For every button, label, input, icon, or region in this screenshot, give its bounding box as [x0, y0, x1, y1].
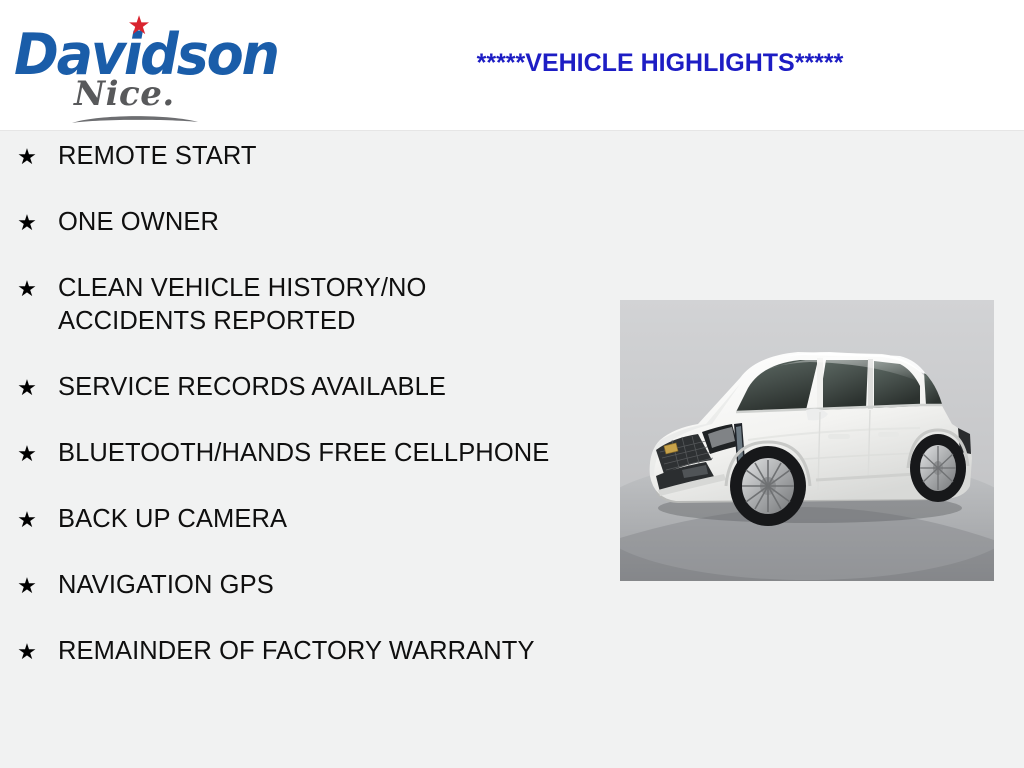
logo-script-text: Nice. [74, 76, 175, 112]
content-area: ★ REMOTE START ★ ONE OWNER ★ CLEAN VEHIC… [0, 131, 1024, 768]
star-bullet-icon: ★ [14, 140, 40, 173]
list-item: ★ BLUETOOTH/HANDS FREE CELLPHONE [12, 437, 552, 470]
list-item: ★ REMOTE START [12, 140, 552, 173]
list-item-label: REMOTE START [58, 140, 552, 173]
list-item-label: REMAINDER OF FACTORY WARRANTY [58, 635, 552, 668]
vehicle-photo[interactable] [620, 300, 994, 581]
list-item-label: SERVICE RECORDS AVAILABLE [58, 371, 552, 404]
list-item-label: BACK UP CAMERA [58, 503, 552, 536]
list-item: ★ REMAINDER OF FACTORY WARRANTY [12, 635, 552, 668]
vehicle-highlights-list: ★ REMOTE START ★ ONE OWNER ★ CLEAN VEHIC… [12, 140, 552, 701]
star-bullet-icon: ★ [14, 437, 40, 470]
dealer-logo[interactable]: Davidson ★ Nice. [14, 8, 264, 126]
list-item-label: ONE OWNER [58, 206, 552, 239]
list-item-label: NAVIGATION GPS [58, 569, 552, 602]
star-bullet-icon: ★ [14, 206, 40, 239]
list-item-label: BLUETOOTH/HANDS FREE CELLPHONE [58, 437, 552, 470]
star-bullet-icon: ★ [14, 272, 40, 305]
star-bullet-icon: ★ [14, 371, 40, 404]
logo-swoosh-icon [70, 112, 200, 126]
list-item-label: CLEAN VEHICLE HISTORY/NO ACCIDENTS REPOR… [58, 272, 552, 338]
list-item: ★ SERVICE RECORDS AVAILABLE [12, 371, 552, 404]
page-title: *****VEHICLE HIGHLIGHTS***** [300, 48, 1020, 78]
list-item: ★ BACK UP CAMERA [12, 503, 552, 536]
list-item: ★ CLEAN VEHICLE HISTORY/NO ACCIDENTS REP… [12, 272, 552, 338]
page-header: Davidson ★ Nice. *****VEHICLE HIGHLIGHTS… [0, 0, 1024, 131]
list-item: ★ ONE OWNER [12, 206, 552, 239]
star-bullet-icon: ★ [14, 503, 40, 536]
list-item: ★ NAVIGATION GPS [12, 569, 552, 602]
star-bullet-icon: ★ [14, 569, 40, 602]
logo-star-icon: ★ [126, 12, 152, 38]
star-bullet-icon: ★ [14, 635, 40, 668]
